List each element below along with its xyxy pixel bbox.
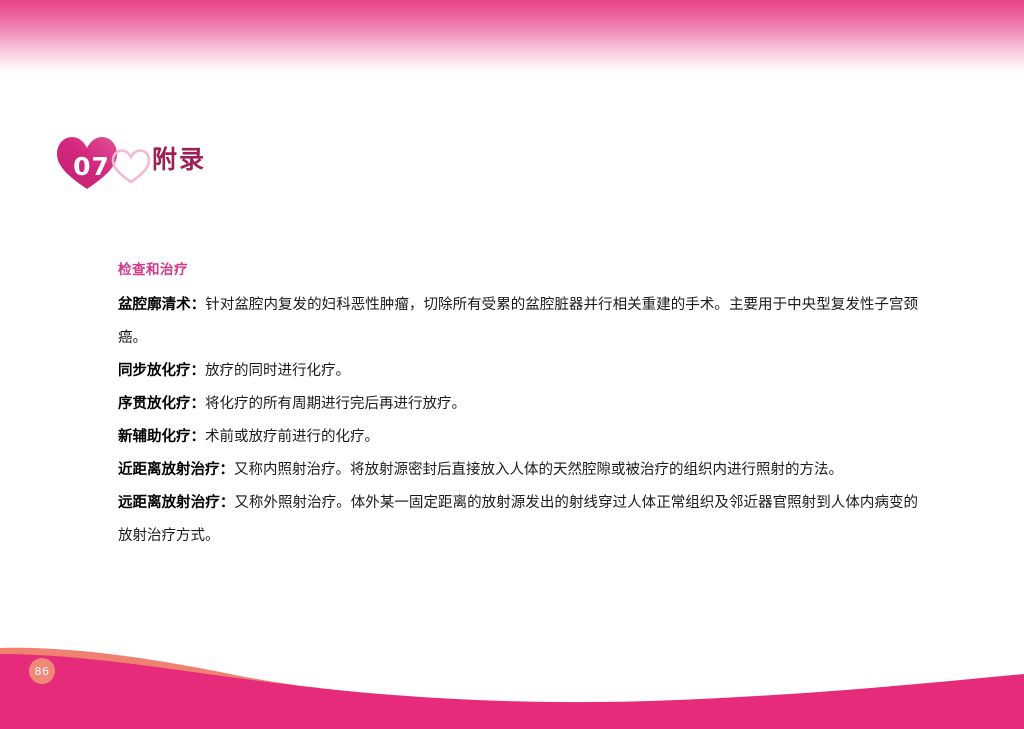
section-number: 7.4 <box>201 200 234 220</box>
glossary-content: 检查和治疗 盆腔廓清术：针对盆腔内复发的妇科恶性肿瘤，切除所有受累的盆腔脏器并行… <box>118 258 918 553</box>
chapter-number: 07 <box>56 134 118 190</box>
glossary-definition: 将化疗的所有周期进行完后再进行放疗。 <box>205 396 466 412</box>
page-title: 附录 <box>152 140 206 176</box>
footer-decoration <box>0 624 1024 729</box>
top-gradient-band <box>0 0 1024 72</box>
glossary-term: 盆腔廓清术： <box>118 297 205 313</box>
glossary-definition: 术前或放疗前进行的化疗。 <box>205 429 379 445</box>
glossary-term: 近距离放射治疗： <box>118 462 234 478</box>
glossary-entry: 新辅助化疗：术前或放疗前进行的化疗。 <box>118 421 918 454</box>
glossary-entry: 盆腔廓清术：针对盆腔内复发的妇科恶性肿瘤，切除所有受累的盆腔脏器并行相关重建的手… <box>118 289 918 355</box>
glossary-term: 序贯放化疗： <box>118 396 205 412</box>
glossary-definition: 放疗的同时进行化疗。 <box>205 363 350 379</box>
glossary-term: 新辅助化疗： <box>118 429 205 445</box>
glossary-term: 同步放化疗： <box>118 363 205 379</box>
glossary-entry: 近距离放射治疗：又称内照射治疗。将放射源密封后直接放入人体的天然腔隙或被治疗的组… <box>118 454 918 487</box>
glossary-entry: 同步放化疗：放疗的同时进行化疗。 <box>118 355 918 388</box>
glossary-definition: 针对盆腔内复发的妇科恶性肿瘤，切除所有受累的盆腔脏器并行相关重建的手术。主要用于… <box>118 297 918 346</box>
section-title: 专业名词查询 <box>249 198 357 223</box>
glossary-definition: 又称内照射治疗。将放射源密封后直接放入人体的天然腔隙或被治疗的组织内进行照射的方… <box>234 462 843 478</box>
appendix-page: 07 附录 7.4 专业名词查询 检查和治疗 盆腔廓清术：针对盆腔内复发的妇科恶… <box>0 0 1024 729</box>
glossary-entry: 远距离放射治疗：又称外照射治疗。体外某一固定距离的放射源发出的射线穿过人体正常组… <box>118 487 918 553</box>
page-number-badge: 86 <box>29 658 55 684</box>
glossary-entry: 序贯放化疗：将化疗的所有周期进行完后再进行放疗。 <box>118 388 918 421</box>
glossary-definition: 又称外照射治疗。体外某一固定距离的放射源发出的射线穿过人体正常组织及邻近器官照射… <box>118 495 918 544</box>
section-pill: 7.4 专业名词查询 <box>167 192 391 228</box>
glossary-term: 远距离放射治疗： <box>118 495 234 511</box>
subsection-heading: 检查和治疗 <box>118 258 918 278</box>
chapter-heading: 07 附录 <box>56 128 476 190</box>
